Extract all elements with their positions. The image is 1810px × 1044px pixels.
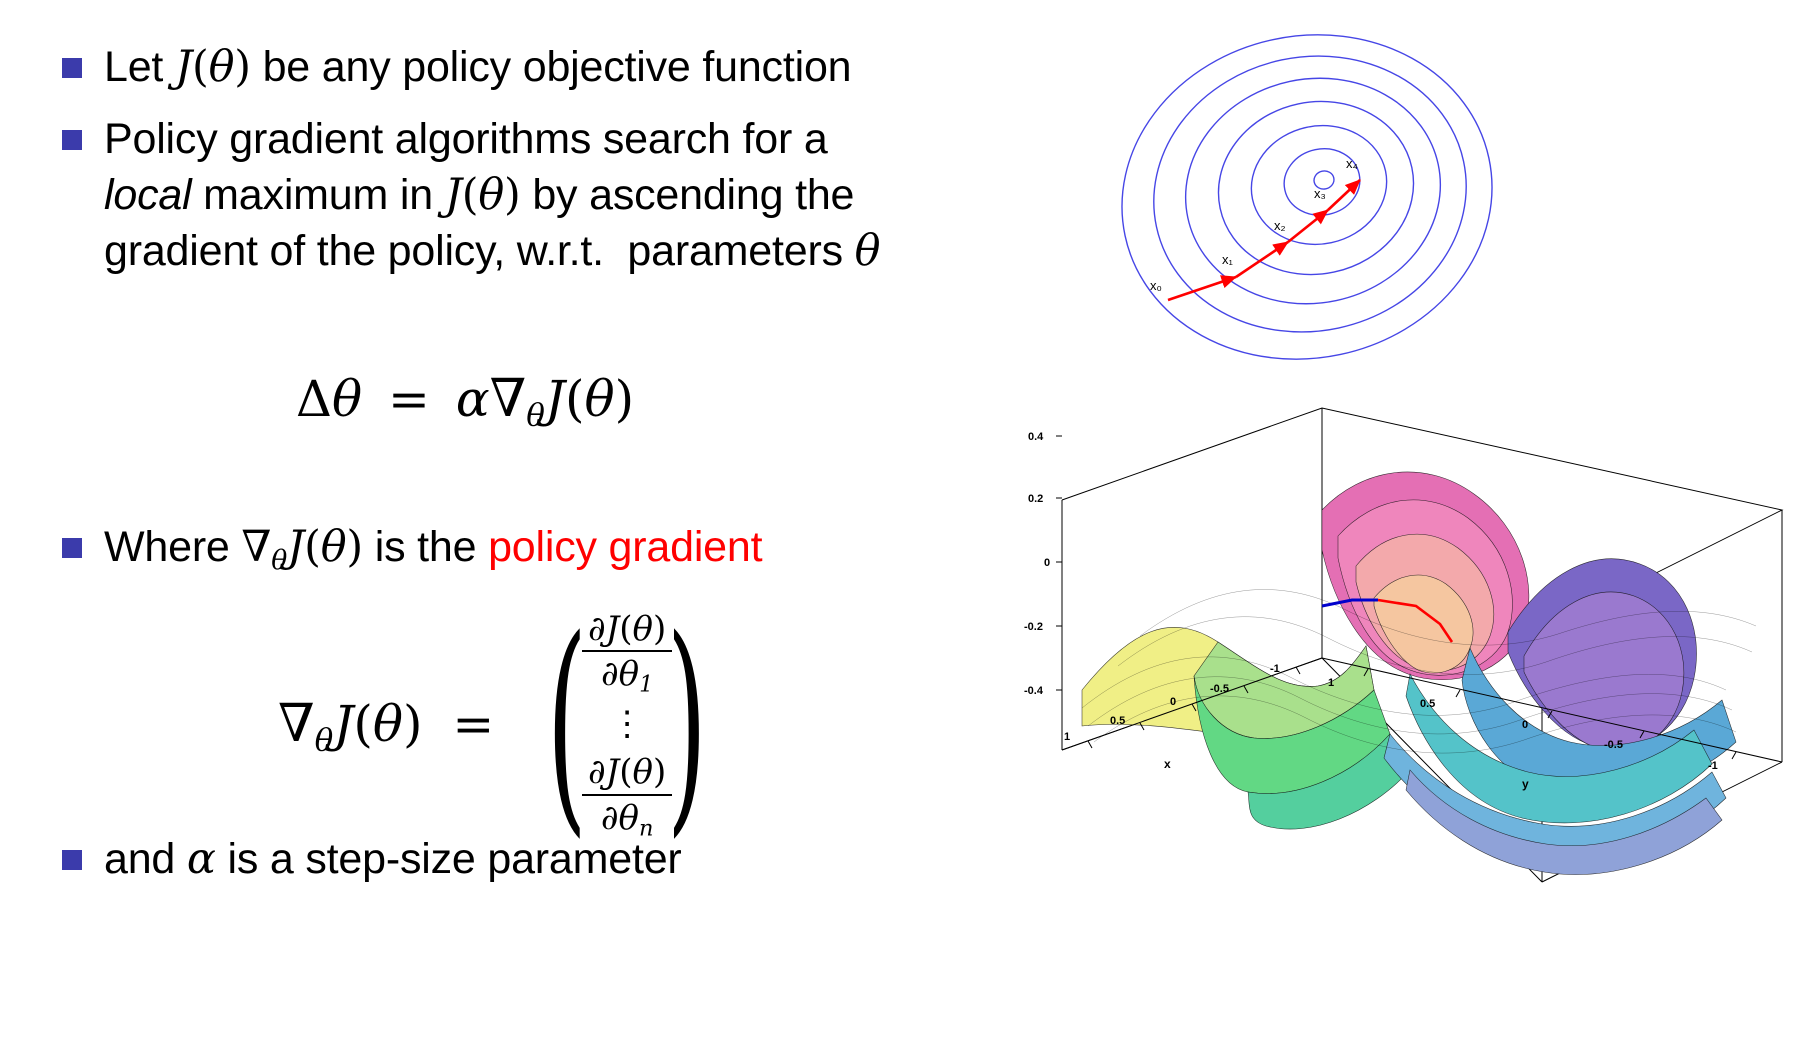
z-tick-4: -0.4: [1024, 685, 1044, 697]
x-tick-1: 0.5: [1110, 715, 1125, 727]
gradient-ascent-contour-plot: x₀ x₁ x₂ x₃ x₄: [1112, 28, 1532, 378]
y-tick-4: -1: [1708, 760, 1718, 772]
x-tick-0: 1: [1064, 731, 1070, 743]
contour-rings: [1112, 28, 1522, 378]
point-label-x2: x₂: [1274, 218, 1286, 233]
bullet-2-text: Policy gradient algorithms search for a …: [104, 112, 880, 280]
z-tick-3: -0.2: [1024, 621, 1043, 633]
x-tick-2: 0: [1170, 696, 1176, 708]
matrix-group: ( ∂J(θ) ∂θ1 ⋮ ∂J(θ): [508, 610, 732, 841]
left-paren: (: [547, 654, 587, 797]
matrix-row-last: ∂J(θ) ∂θn: [582, 753, 672, 840]
y-tick-0: 1: [1328, 677, 1334, 689]
point-label-x4: x₄: [1346, 156, 1358, 171]
slide-content: Let J(θ) be any policy objective functio…: [0, 0, 1010, 1044]
numerator: ∂J(θ): [582, 753, 672, 793]
gradient-ascent-arrows: [1168, 180, 1360, 300]
bullet-item-4: and α is a step-size parameter: [62, 832, 1002, 888]
bullet-3-text: Where ∇θJ(θ) is the policy gradient: [104, 520, 762, 579]
z-tick-2: 0: [1044, 557, 1050, 569]
y-tick-3: -0.5: [1604, 739, 1623, 751]
equation-lhs: ∇θJ(θ) =: [278, 693, 508, 758]
numerator: ∂J(θ): [582, 610, 672, 650]
matrix-row-first: ∂J(θ) ∂θ1: [582, 610, 672, 697]
y-tick-2: 0: [1522, 719, 1528, 731]
equation-update-rule: Δθ = α∇θJ(θ): [0, 368, 970, 433]
x-tick-4: -1: [1270, 663, 1280, 675]
matrix-vdots: ⋮: [610, 697, 644, 753]
x-axis-label: x: [1164, 757, 1171, 771]
figures-column: x₀ x₁ x₂ x₃ x₄: [1012, 0, 1810, 1044]
bullet-item-2: Policy gradient algorithms search for a …: [62, 112, 1002, 280]
bullet-square-icon: [62, 58, 82, 78]
bullet-item-1: Let J(θ) be any policy objective functio…: [62, 40, 1002, 96]
bullet-square-icon: [62, 538, 82, 558]
bullet-item-3: Where ∇θJ(θ) is the policy gradient: [62, 520, 1022, 579]
z-tick-1: 0.2: [1028, 493, 1043, 505]
equation-policy-gradient-vector: ∇θJ(θ) = ( ∂J(θ) ∂θ1 ⋮: [0, 610, 1010, 841]
slide-root: Let J(θ) be any policy objective functio…: [0, 0, 1810, 1044]
denominator: ∂θ1: [595, 652, 659, 697]
bullet-square-icon: [62, 130, 82, 150]
z-axis-ticks: 0.4 0.2 0 -0.2 -0.4: [1024, 431, 1062, 697]
matrix-column: ∂J(θ) ∂θ1 ⋮ ∂J(θ) ∂θ: [578, 610, 676, 841]
x-tick-3: -0.5: [1210, 683, 1229, 695]
surface-mesh: [1082, 472, 1736, 875]
z-tick-0: 0.4: [1028, 431, 1044, 443]
bullet-4-text: and α is a step-size parameter: [104, 832, 682, 888]
point-label-x0: x₀: [1150, 278, 1162, 293]
bullet-square-icon: [62, 850, 82, 870]
3d-surface-plot: 0.4 0.2 0 -0.2 -0.4: [1022, 390, 1810, 1030]
contour-point-labels: x₀ x₁ x₂ x₃ x₄: [1150, 156, 1358, 293]
y-axis-label: y: [1522, 777, 1529, 791]
y-tick-1: 0.5: [1420, 698, 1435, 710]
bullet-1-text: Let J(θ) be any policy objective functio…: [104, 40, 851, 96]
right-paren: ): [667, 654, 707, 797]
point-label-x1: x₁: [1222, 252, 1234, 267]
point-label-x3: x₃: [1314, 186, 1326, 201]
policy-gradient-highlight: policy gradient: [488, 523, 762, 571]
